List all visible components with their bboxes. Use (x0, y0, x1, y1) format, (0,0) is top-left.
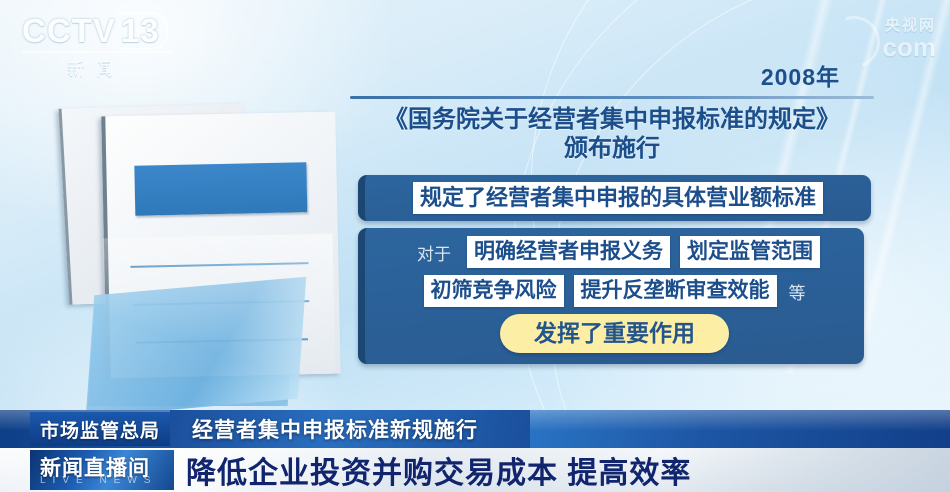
document-text-line-1 (130, 262, 308, 268)
regulation-title-line-2: 颁布施行 (350, 134, 874, 163)
effects-row-1: 对于 明确经营者申报义务 划定监管范围 (365, 236, 864, 268)
regulation-title: 《国务院关于经营者集中申报标准的规定》 颁布施行 (350, 105, 874, 163)
panel-1-tag: 规定了经营者集中申报的具体营业额标准 (413, 182, 823, 214)
cctv-logo-number: 13 (118, 12, 168, 50)
effect-tag-4: 提升反垄断审查效能 (574, 275, 777, 307)
conclusion-pill: 发挥了重要作用 (500, 314, 729, 353)
info-column: 2008年 《国务院关于经营者集中申报标准的规定》 颁布施行 规定了经营者集中申… (350, 58, 874, 364)
program-name-en: LIVE NEWS (40, 475, 157, 486)
panel-effects: 对于 明确经营者申报义务 划定监管范围 初筛竞争风险 提升反垄断审查效能 等 发… (358, 228, 864, 364)
topic-label: 经营者集中申报标准新规施行 (178, 410, 492, 448)
broadcast-screen: CCTV13 新闻 央视网 com 2008年 《国务院关于经营者集中申报标准的… (0, 0, 950, 492)
cctv-logo-subtitle: 新闻 (36, 55, 156, 80)
conclusion-row: 发挥了重要作用 (365, 314, 864, 353)
effects-trailing: 等 (787, 279, 806, 304)
cctv-logo-text: CCTV (22, 12, 116, 49)
title-divider (350, 96, 874, 99)
effect-tag-3: 初筛竞争风险 (424, 275, 564, 307)
year-label: 2008年 (350, 58, 874, 92)
panel-turnover-standard: 规定了经营者集中申报的具体营业额标准 (358, 175, 871, 221)
cctv-com-watermark: 央视网 com (883, 14, 936, 59)
lower-third: 市场监管总局 经营者集中申报标准新规施行 新闻直播间 LIVE NEWS 降低企… (0, 384, 950, 492)
stacked-documents-icon (62, 96, 362, 408)
cctv-logo-rule (22, 51, 172, 53)
watermark-en: com (883, 35, 936, 59)
cctv-logo-wordmark: CCTV13 (22, 12, 182, 50)
program-chip: 新闻直播间 LIVE NEWS (30, 450, 174, 490)
effect-tag-1: 明确经营者申报义务 (467, 236, 670, 268)
regulation-title-line-1: 《国务院关于经营者集中申报标准的规定》 (350, 105, 874, 134)
organization-chip: 市场监管总局 (30, 412, 170, 446)
effects-lead-in: 对于 (411, 240, 457, 265)
document-header-block (134, 162, 307, 216)
headline-text: 降低企业投资并购交易成本 提高效率 (186, 450, 691, 490)
effect-tag-2: 划定监管范围 (680, 236, 820, 268)
effects-row-2: 初筛竞争风险 提升反垄断审查效能 等 (365, 275, 864, 307)
cctv13-logo: CCTV13 新闻 (22, 12, 182, 70)
